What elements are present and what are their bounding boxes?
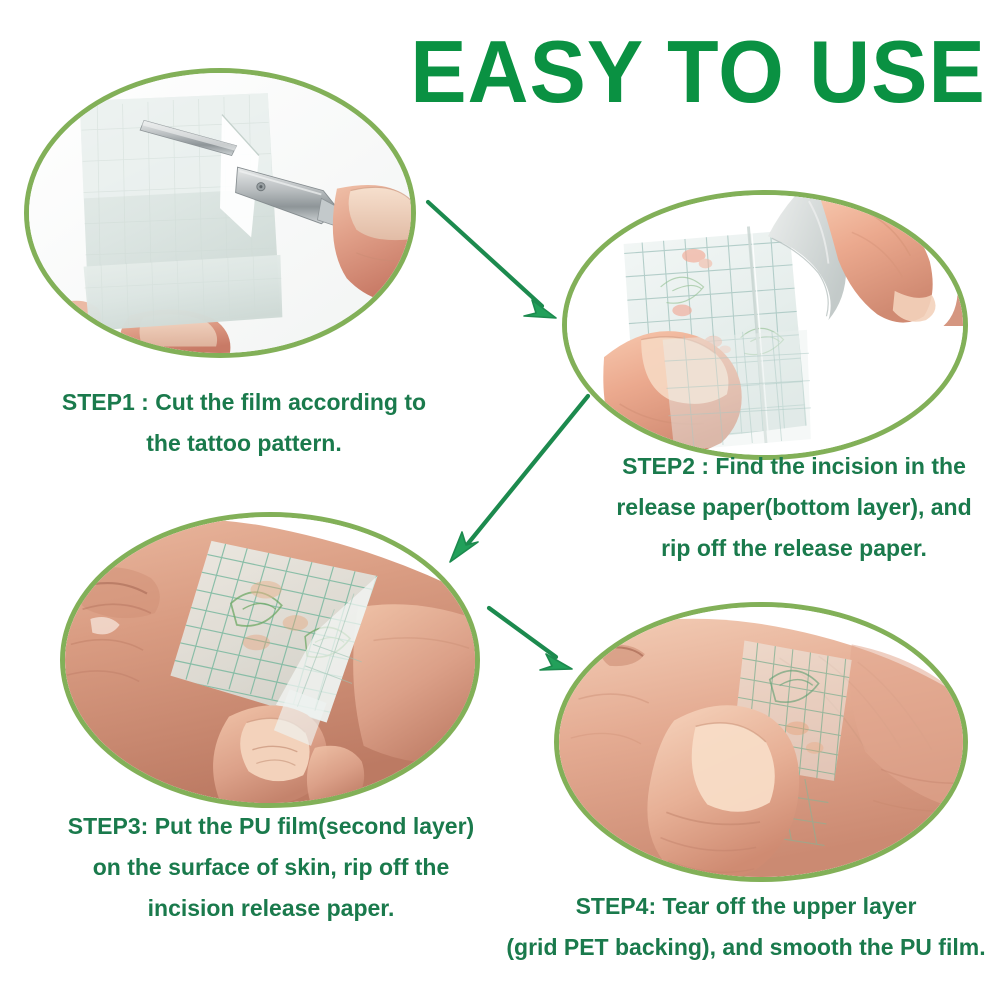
caption-step3: STEP3: Put the PU film(second layer) on …	[38, 806, 504, 929]
caption-step3-line3: incision release paper.	[38, 888, 504, 929]
caption-step2-line3: rip off the release paper.	[588, 528, 1000, 569]
photo-step1-cutting-film	[24, 68, 416, 358]
infographic-page: EASY TO USE	[0, 0, 1000, 1001]
caption-step3-line1: STEP3: Put the PU film(second layer)	[38, 806, 504, 847]
caption-step1: STEP1 : Cut the film according to the ta…	[34, 382, 454, 464]
photo-step3-apply-to-skin	[60, 512, 480, 808]
caption-step4-line2: (grid PET backing), and smooth the PU fi…	[492, 927, 1000, 968]
caption-step2: STEP2 : Find the incision in the release…	[588, 446, 1000, 569]
page-title: EASY TO USE	[410, 26, 986, 118]
arrow-step3-to-step4	[489, 608, 572, 670]
arrow-step2-to-step3	[450, 396, 588, 562]
arrow-step1-to-step2	[428, 202, 556, 318]
photo-step2-peel-release-paper	[562, 190, 968, 460]
photo-step4-smooth-film	[554, 602, 968, 882]
caption-step1-line2: the tattoo pattern.	[34, 423, 454, 464]
caption-step4-line1: STEP4: Tear off the upper layer	[492, 886, 1000, 927]
caption-step3-line2: on the surface of skin, rip off the	[38, 847, 504, 888]
caption-step2-line2: release paper(bottom layer), and	[588, 487, 1000, 528]
caption-step2-line1: STEP2 : Find the incision in the	[588, 446, 1000, 487]
caption-step4: STEP4: Tear off the upper layer (grid PE…	[492, 886, 1000, 968]
caption-step1-line1: STEP1 : Cut the film according to	[34, 382, 454, 423]
